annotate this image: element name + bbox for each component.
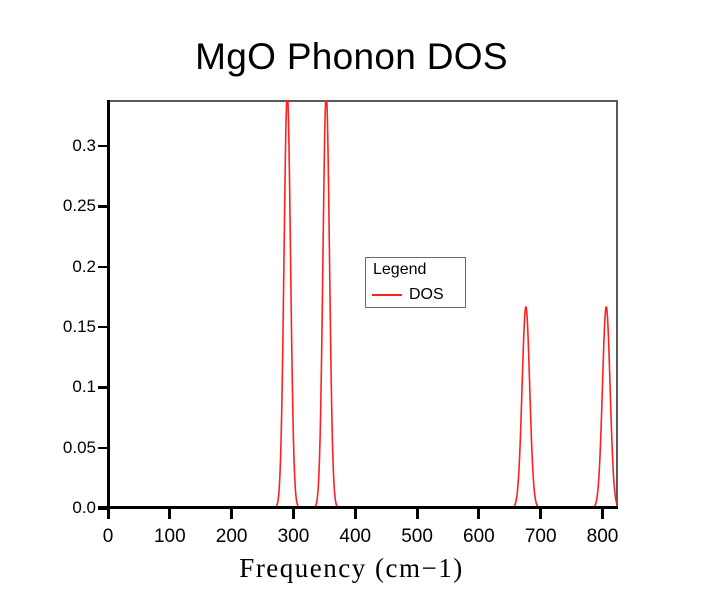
x-axis-label: Frequency (cm−1) [0, 553, 703, 584]
x-axis-line [98, 506, 618, 509]
legend: Legend DOS [365, 257, 466, 308]
chart-figure: MgO Phonon DOS 0.00.050.10.150.20.250.3 … [0, 0, 703, 599]
x-tick-label: 800 [563, 526, 643, 548]
x-axis-ticklabels: 0100200300400500600700800 [0, 0, 703, 599]
legend-title: Legend [373, 261, 426, 279]
legend-color-swatch-dos [372, 294, 402, 296]
legend-entry-dos[interactable]: DOS [372, 285, 444, 305]
legend-entry-label-dos: DOS [409, 287, 444, 303]
